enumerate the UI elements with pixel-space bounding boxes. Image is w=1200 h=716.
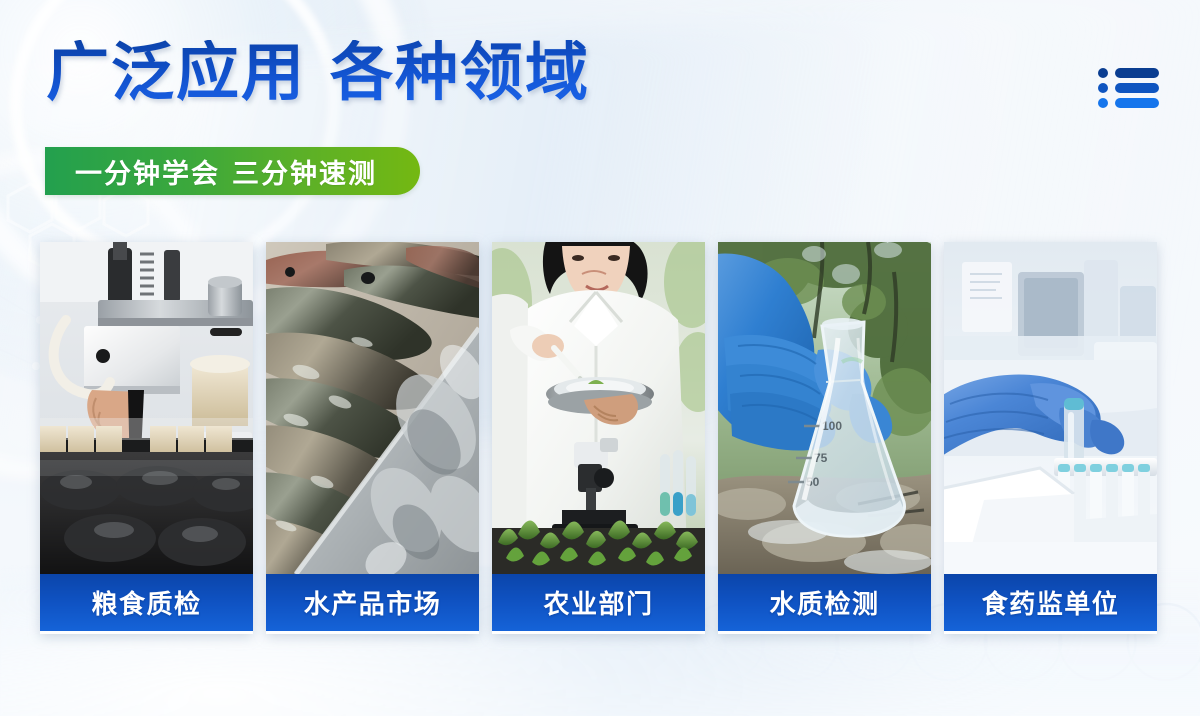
card-photo-lab-test-tubes [944, 242, 1157, 574]
list-icon-bar [1115, 98, 1159, 108]
card-label-text: 食药监单位 [982, 584, 1120, 621]
card-aquatic-market[interactable]: 水产品市场 [266, 242, 479, 634]
card-label-text: 农业部门 [543, 584, 653, 621]
tagline-badge-text: 一分钟学会三分钟速测 [75, 152, 377, 191]
card-photo-water-sampling: 100 75 50 [718, 242, 931, 574]
card-agriculture-dept[interactable]: 农业部门 [492, 242, 705, 634]
page-title: 广泛应用各种领域 [46, 40, 590, 107]
tagline-part2: 三分钟速测 [232, 159, 377, 189]
list-icon-row-3 [1098, 98, 1156, 108]
card-label-food-drug-admin: 食药监单位 [944, 574, 1157, 634]
card-photo-fish-market [266, 242, 479, 574]
card-photo-agriculture-lab [492, 242, 705, 574]
application-cards: 粮食质检 [40, 242, 1160, 634]
card-water-quality[interactable]: 100 75 50 水质检测 [718, 242, 931, 634]
card-label-text: 水产品市场 [304, 584, 442, 621]
card-label-agriculture-dept: 农业部门 [492, 574, 705, 634]
card-photo-grain-testing [40, 242, 253, 574]
list-icon-dot [1098, 68, 1108, 78]
list-icon-dot [1098, 83, 1108, 93]
list-icon-dot [1098, 98, 1108, 108]
list-icon-row-2 [1098, 83, 1156, 93]
tagline-badge: 一分钟学会三分钟速测 [45, 147, 420, 195]
card-food-drug-admin[interactable]: 食药监单位 [944, 242, 1157, 634]
card-label-text: 粮食质检 [91, 584, 201, 621]
list-icon-bar [1115, 68, 1159, 78]
card-label-text: 水质检测 [769, 584, 879, 621]
page-title-part2: 各种领域 [330, 38, 590, 108]
card-label-water-quality: 水质检测 [718, 574, 931, 634]
list-icon-bar [1115, 83, 1159, 93]
card-label-aquatic-market: 水产品市场 [266, 574, 479, 634]
list-icon-row-1 [1098, 68, 1156, 78]
tagline-part1: 一分钟学会 [75, 159, 220, 189]
list-menu-icon[interactable] [1098, 68, 1156, 108]
card-label-grain-quality: 粮食质检 [40, 574, 253, 634]
page-title-part1: 广泛应用 [46, 38, 306, 108]
card-grain-quality[interactable]: 粮食质检 [40, 242, 253, 634]
